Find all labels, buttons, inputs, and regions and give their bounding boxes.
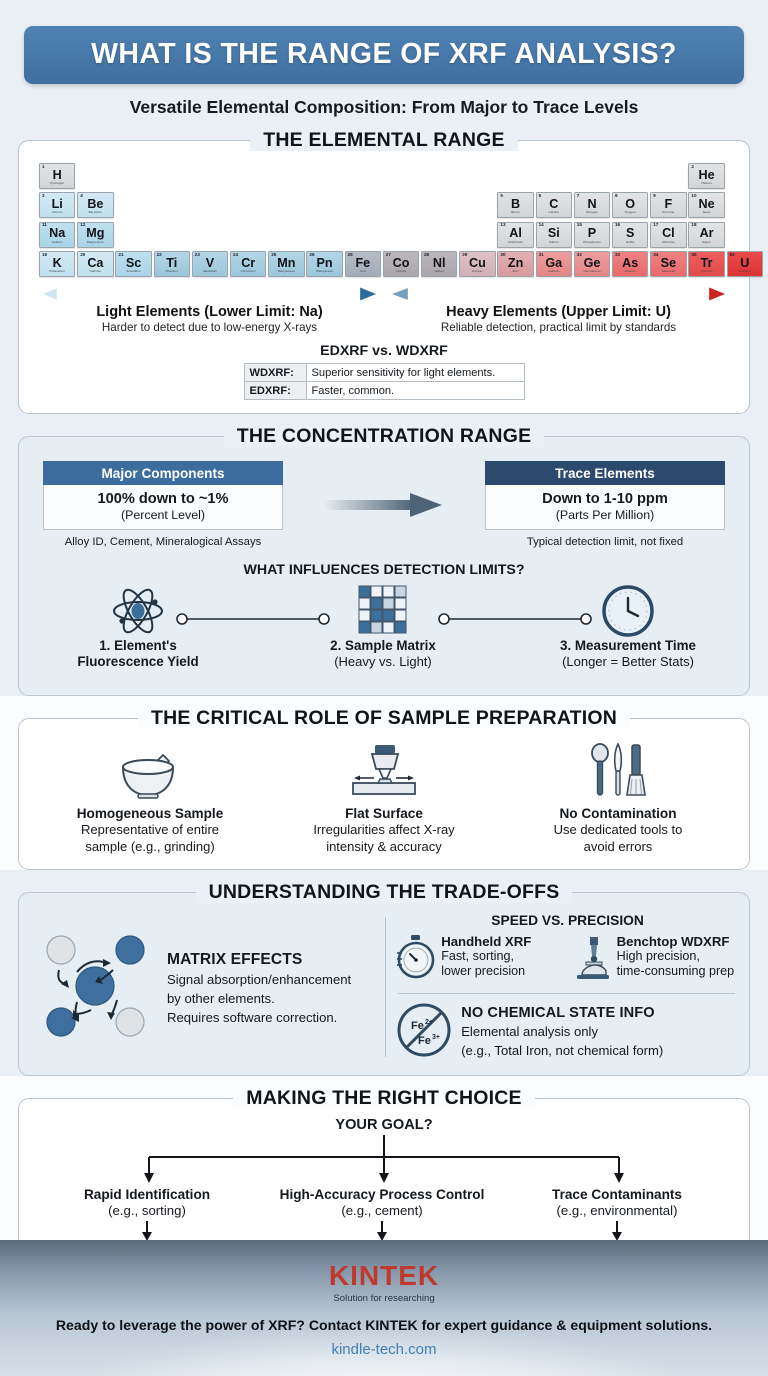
prep-3-heading: No Contamination <box>501 806 735 821</box>
element-symbol: Sc <box>116 257 150 270</box>
element-number: 33 <box>615 253 620 258</box>
element-name: Copper <box>460 270 494 273</box>
influence-measurement-time: 3. Measurement Time (Longer = Better Sta… <box>533 584 723 670</box>
element-cell-p: 15PPhosphorus <box>574 222 610 248</box>
branch-3-title: Trace Contaminants <box>499 1187 735 1203</box>
element-number: 26 <box>348 253 353 258</box>
influence-fluorescence-yield: 1. Element's Fluorescence Yield <box>43 584 233 671</box>
prep-1-line2: sample (e.g., grinding) <box>33 839 267 855</box>
element-cell-ti: 22TiTitanium <box>154 251 190 277</box>
influences-title: WHAT INFLUENCES DETECTION LIMITS? <box>33 562 735 578</box>
element-symbol: Fe <box>346 257 380 270</box>
branch-2-example: (e.g., cement) <box>264 1203 500 1219</box>
right-chevron-arrow-icon <box>324 492 444 518</box>
light-elements-heading: Light Elements (Lower Limit: Na) <box>41 304 378 320</box>
element-number: 27 <box>386 253 391 258</box>
footer-url[interactable]: kindle-tech.com <box>0 1341 768 1358</box>
element-name: Magnesium <box>78 241 112 244</box>
element-symbol: U <box>728 257 762 270</box>
element-number: 9 <box>653 194 656 199</box>
element-cell-c: 6CCarbon <box>536 192 572 218</box>
svg-text:2+: 2+ <box>425 1019 433 1026</box>
no-chemical-state-heading: NO CHEMICAL STATE INFO <box>461 1005 663 1021</box>
kintek-tagline: Solution for researching <box>0 1293 768 1304</box>
matrix-effects-line1: Signal absorption/enhancement <box>167 971 351 988</box>
edxrf-key: EDXRF: <box>244 382 306 400</box>
periodic-table: 1HHydrogen2HeHelium3LiLithium4BeBerylliu… <box>39 163 729 279</box>
element-name: Calcium <box>78 270 112 273</box>
element-cell-li: 3LiLithium <box>39 192 75 218</box>
tradeoffs-section: UNDERSTANDING THE TRADE-OFFS <box>18 892 750 1076</box>
element-name: Boron <box>498 211 532 214</box>
edxrf-wdxrf-title: EDXRF vs. WDXRF <box>33 343 735 359</box>
edxrf-value: Faster, common. <box>306 382 524 400</box>
element-name: Thorium <box>689 270 723 273</box>
element-number: 6 <box>539 194 542 199</box>
element-cell-he: 2HeHelium <box>688 163 724 189</box>
element-name: Uranium <box>728 270 762 273</box>
element-number: 30 <box>500 253 505 258</box>
light-elements-group: Light Elements (Lower Limit: Na) Harder … <box>41 287 378 334</box>
element-number: 15 <box>577 223 582 228</box>
branch-1-example: (e.g., sorting) <box>29 1203 265 1219</box>
element-number: 32 <box>577 253 582 258</box>
element-name: Neon <box>689 211 723 214</box>
right-arrow-icon <box>390 287 727 301</box>
page-footer: KINTEK Solution for researching Ready to… <box>0 1240 768 1376</box>
title-banner: WHAT IS THE RANGE OF XRF ANALYSIS? <box>24 26 744 84</box>
element-cell-u: 92UUranium <box>727 251 763 277</box>
element-name: Cobalt <box>384 270 418 273</box>
decision-tree-connectors <box>29 1135 739 1193</box>
footer-cta: Ready to leverage the power of XRF? Cont… <box>0 1317 768 1333</box>
element-symbol: Cl <box>651 227 685 240</box>
element-number: 12 <box>80 223 85 228</box>
element-number: 2 <box>691 165 694 170</box>
element-number: 24 <box>233 253 238 258</box>
element-name: Carbon <box>537 211 571 214</box>
element-number: 92 <box>730 253 735 258</box>
sample-preparation-band: THE CRITICAL ROLE OF SAMPLE PREPARATION … <box>0 696 768 870</box>
element-symbol: Nl <box>422 257 456 270</box>
element-name: Scandium <box>116 270 150 273</box>
element-cell-zn: 30ZnZinc <box>497 251 533 277</box>
element-symbol: H <box>40 169 74 182</box>
heavy-elements-group: Heavy Elements (Upper Limit: U) Reliable… <box>390 287 727 334</box>
tradeoffs-band: UNDERSTANDING THE TRADE-OFFS <box>0 870 768 1076</box>
matrix-effects-icon <box>33 926 163 1051</box>
microscope-icon <box>572 934 612 985</box>
element-number: 34 <box>653 253 658 258</box>
element-number: 14 <box>539 223 544 228</box>
branch-1-title: Rapid Identification <box>29 1187 265 1203</box>
element-cell-na: 11NaSodium <box>39 222 75 248</box>
matrix-effects-line3: Requires software correction. <box>167 1009 351 1026</box>
element-symbol: Co <box>384 257 418 270</box>
no-chemical-state-icon: Fe 2+ Fe 3+ <box>396 1002 452 1063</box>
prep-1-heading: Homogeneous Sample <box>33 806 267 821</box>
element-symbol: Ge <box>575 257 609 270</box>
wdxrf-value: Superior sensitivity for light elements. <box>306 364 524 382</box>
element-symbol: K <box>40 257 74 270</box>
element-cell-k: 19KPotassium <box>39 251 75 277</box>
kintek-logo: KINTEK <box>0 1240 768 1290</box>
matrix-grid-icon <box>288 584 478 638</box>
influence-2-heading: 2. Sample Matrix <box>288 638 478 654</box>
element-name: Nitrogen <box>575 211 609 214</box>
major-components-card: Major Components 100% down to ~1% (Perce… <box>43 461 283 548</box>
element-name: Beryllium <box>78 211 112 214</box>
element-cell-as: 33AsArsenic <box>612 251 648 277</box>
element-name: Zinc <box>498 270 532 273</box>
element-cell-al: 13AlAluminium <box>497 222 533 248</box>
element-name: Nickel <box>422 270 456 273</box>
element-name: Chlorine <box>651 241 685 244</box>
influences-row: 1. Element's Fluorescence Yield <box>33 584 735 682</box>
element-cell-co: 27CoCobalt <box>383 251 419 277</box>
light-elements-sub: Harder to detect due to low-energy X-ray… <box>41 321 378 334</box>
element-symbol: Cr <box>231 257 265 270</box>
element-number: 4 <box>80 194 83 199</box>
element-name: Manganese <box>307 270 341 273</box>
element-number: 16 <box>615 223 620 228</box>
element-cell-cl: 17ClChlorine <box>650 222 686 248</box>
element-cell-pn: 26PnManganese <box>306 251 342 277</box>
no-chemical-state-line1: Elemental analysis only <box>461 1023 663 1040</box>
influence-3-sub: (Longer = Better Stats) <box>533 654 723 670</box>
element-name: Hydrogen <box>40 182 74 185</box>
element-symbol: V <box>193 257 227 270</box>
prep-flat-surface: Flat Surface Irregularities affect X-ray… <box>267 741 501 856</box>
branch-2-title: High-Accuracy Process Control <box>264 1187 500 1203</box>
concentration-range-section: THE CONCENTRATION RANGE Major Components… <box>18 436 750 696</box>
element-number: 21 <box>118 253 123 258</box>
svg-text:Fe: Fe <box>411 1020 424 1032</box>
element-name: Helium <box>689 182 723 185</box>
major-components-header: Major Components <box>43 461 283 485</box>
element-symbol: Na <box>40 227 74 240</box>
element-cell-ga: 31GaGallium <box>536 251 572 277</box>
element-symbol: Ti <box>155 257 189 270</box>
trace-elements-unit: (Parts Per Million) <box>490 508 720 522</box>
flat-surface-icon <box>267 741 501 799</box>
element-cell-s: 16SSulfur <box>612 222 648 248</box>
benchtop-wdxrf-item: Benchtop WDXRF High precision, time-cons… <box>572 934 739 985</box>
element-name: Gallium <box>537 270 571 273</box>
prep-3-line2: avoid errors <box>501 839 735 855</box>
element-name: Oxygen <box>613 211 647 214</box>
element-number: 3 <box>42 194 45 199</box>
element-number: 31 <box>539 253 544 258</box>
prep-no-contamination: No Contamination Use dedicated tools to … <box>501 741 735 856</box>
element-cell-h: 1HHydrogen <box>39 163 75 189</box>
element-number: 8 <box>615 194 618 199</box>
trace-elements-value: Down to 1-10 ppm <box>490 491 720 507</box>
element-name: Manganese <box>269 270 303 273</box>
matrix-effects-block: MATRIX EFFECTS Signal absorption/enhance… <box>29 911 383 1063</box>
major-components-caption: Alloy ID, Cement, Mineralogical Assays <box>43 536 283 548</box>
element-number: 1 <box>42 165 45 170</box>
element-symbol: Ar <box>689 227 723 240</box>
trace-elements-caption: Typical detection limit, not fixed <box>485 536 725 548</box>
element-symbol: Ga <box>537 257 571 270</box>
element-name: Fluorine <box>651 211 685 214</box>
stopwatch-icon <box>396 934 436 985</box>
element-symbol: Cu <box>460 257 494 270</box>
element-symbol: Pn <box>307 257 341 270</box>
element-number: 25 <box>271 253 276 258</box>
page-title: WHAT IS THE RANGE OF XRF ANALYSIS? <box>34 38 734 71</box>
element-cell-ne: 10NeNeon <box>688 192 724 218</box>
element-number: 5 <box>500 194 503 199</box>
element-cell-ge: 32GeGermanium <box>574 251 610 277</box>
no-chemical-state-block: Fe 2+ Fe 3+ NO CHEMICAL STATE INFO Eleme… <box>396 1002 739 1063</box>
element-symbol: Mg <box>78 227 112 240</box>
element-name: Vanadium <box>193 270 227 273</box>
element-symbol: P <box>575 227 609 240</box>
element-name: Arsenic <box>613 270 647 273</box>
heavy-elements-heading: Heavy Elements (Upper Limit: U) <box>390 304 727 320</box>
prep-2-heading: Flat Surface <box>267 806 501 821</box>
clean-tools-icon <box>501 741 735 799</box>
benchtop-wdxrf-heading: Benchtop WDXRF <box>617 934 735 949</box>
element-symbol: Mn <box>269 257 303 270</box>
element-symbol: Tr <box>689 257 723 270</box>
element-cell-cu: 29CuCopper <box>459 251 495 277</box>
element-cell-mn: 25MnManganese <box>268 251 304 277</box>
element-cell-tr: 35TrThorium <box>688 251 724 277</box>
concentration-range-band: THE CONCENTRATION RANGE Major Components… <box>0 414 768 696</box>
influence-3-heading: 3. Measurement Time <box>533 638 723 654</box>
left-arrow-icon <box>41 287 378 301</box>
element-symbol: He <box>689 169 723 182</box>
benchtop-wdxrf-line2: time-consuming prep <box>617 964 735 979</box>
element-cell-se: 34SeSelenium <box>650 251 686 277</box>
major-components-value: 100% down to ~1% <box>48 491 278 507</box>
element-cell-o: 8OOxygen <box>612 192 648 218</box>
clock-icon <box>533 584 723 638</box>
element-cell-ar: 18ArArgon <box>688 222 724 248</box>
element-name: Iron <box>346 270 380 273</box>
matrix-effects-heading: MATRIX EFFECTS <box>167 951 351 969</box>
element-symbol: Al <box>498 227 532 240</box>
handheld-xrf-item: Handheld XRF Fast, sorting, lower precis… <box>396 934 563 985</box>
atom-icon <box>43 584 233 638</box>
element-symbol: Se <box>651 257 685 270</box>
element-symbol: As <box>613 257 647 270</box>
element-cell-v: 23VVanadium <box>192 251 228 277</box>
sample-preparation-section: THE CRITICAL ROLE OF SAMPLE PREPARATION … <box>18 718 750 870</box>
element-symbol: Si <box>537 227 571 240</box>
influence-1-sub: Fluorescence Yield <box>43 654 233 670</box>
range-transition-arrow <box>283 492 485 518</box>
speed-precision-title: SPEED VS. PRECISION <box>396 913 739 928</box>
handheld-xrf-heading: Handheld XRF <box>441 934 531 949</box>
element-number: 22 <box>157 253 162 258</box>
element-name: Titanium <box>155 270 189 273</box>
element-name: Phosphorus <box>575 241 609 244</box>
element-name: Aluminium <box>498 241 532 244</box>
element-cell-fe: 26FeIron <box>345 251 381 277</box>
element-number: 7 <box>577 194 580 199</box>
page-subtitle: Versatile Elemental Composition: From Ma… <box>24 97 744 118</box>
elemental-range-section: THE ELEMENTAL RANGE 1HHydrogen2HeHelium3… <box>18 140 750 414</box>
element-number: 26 <box>309 253 314 258</box>
edxrf-wdxrf-table: WDXRF: Superior sensitivity for light el… <box>244 363 525 400</box>
element-name: Lithium <box>40 211 74 214</box>
element-cell-b: 5BBoron <box>497 192 533 218</box>
matrix-effects-line2: by other elements. <box>167 990 351 1007</box>
page-header: WHAT IS THE RANGE OF XRF ANALYSIS? Versa… <box>0 0 768 118</box>
heavy-elements-sub: Reliable detection, practical limit by s… <box>390 321 727 334</box>
element-number: 13 <box>500 223 505 228</box>
prep-homogeneous-sample: Homogeneous Sample Representative of ent… <box>33 741 267 856</box>
horizontal-divider <box>398 993 735 994</box>
element-cell-sc: 21ScScandium <box>115 251 151 277</box>
prep-3-line1: Use dedicated tools to <box>501 822 735 838</box>
table-row: EDXRF: Faster, common. <box>244 382 524 400</box>
element-symbol: Zn <box>498 257 532 270</box>
no-chemical-state-line2: (e.g., Total Iron, not chemical form) <box>461 1042 663 1059</box>
element-number: 11 <box>42 223 47 228</box>
element-cell-be: 4BeBeryllium <box>77 192 113 218</box>
element-symbol: S <box>613 227 647 240</box>
element-name: Sulfur <box>613 241 647 244</box>
benchtop-wdxrf-line1: High precision, <box>617 949 735 964</box>
element-cell-f: 9FFluorine <box>650 192 686 218</box>
decision-goal-label: YOUR GOAL? <box>29 1117 739 1133</box>
branch-3-example: (e.g., environmental) <box>499 1203 735 1219</box>
element-name: Argon <box>689 241 723 244</box>
svg-text:Fe: Fe <box>418 1035 431 1047</box>
prep-2-line2: intensity & accuracy <box>267 839 501 855</box>
vertical-divider <box>385 917 386 1057</box>
element-number: 29 <box>462 253 467 258</box>
element-name: Selenium <box>651 270 685 273</box>
influence-sample-matrix: 2. Sample Matrix (Heavy vs. Light) <box>288 584 478 670</box>
element-number: 20 <box>80 253 85 258</box>
influence-2-sub: (Heavy vs. Light) <box>288 654 478 670</box>
handheld-xrf-line2: lower precision <box>441 964 531 979</box>
element-cell-nl: 28NlNickel <box>421 251 457 277</box>
element-number: 18 <box>691 223 696 228</box>
element-number: 28 <box>424 253 429 258</box>
element-name: Chromium <box>231 270 265 273</box>
element-cell-n: 7NNitrogen <box>574 192 610 218</box>
elemental-range-band: THE ELEMENTAL RANGE 1HHydrogen2HeHelium3… <box>0 118 768 414</box>
trace-elements-card: Trace Elements Down to 1-10 ppm (Parts P… <box>485 461 725 548</box>
element-cell-mg: 12MgMagnesium <box>77 222 113 248</box>
wdxrf-key: WDXRF: <box>244 364 306 382</box>
mortar-pestle-icon <box>33 741 267 799</box>
influence-1-heading: 1. Element's <box>43 638 233 654</box>
element-cell-ca: 20CaCalcium <box>77 251 113 277</box>
prep-1-line1: Representative of entire <box>33 822 267 838</box>
element-cell-cr: 24CrChromium <box>230 251 266 277</box>
element-name: Potassium <box>40 270 74 273</box>
element-number: 35 <box>691 253 696 258</box>
element-number: 17 <box>653 223 658 228</box>
element-number: 10 <box>691 194 696 199</box>
element-name: Germanium <box>575 270 609 273</box>
major-components-unit: (Percent Level) <box>48 508 278 522</box>
handheld-xrf-line1: Fast, sorting, <box>441 949 531 964</box>
element-symbol: Ca <box>78 257 112 270</box>
range-arrows: Light Elements (Lower Limit: Na) Harder … <box>41 287 727 334</box>
element-name: Silicon <box>537 241 571 244</box>
trace-elements-header: Trace Elements <box>485 461 725 485</box>
element-number: 19 <box>42 253 47 258</box>
svg-text:3+: 3+ <box>432 1034 440 1041</box>
element-cell-si: 14SiSilicon <box>536 222 572 248</box>
prep-2-line1: Irregularities affect X-ray <box>267 822 501 838</box>
element-name: Sodium <box>40 241 74 244</box>
table-row: WDXRF: Superior sensitivity for light el… <box>244 364 524 382</box>
element-number: 23 <box>195 253 200 258</box>
